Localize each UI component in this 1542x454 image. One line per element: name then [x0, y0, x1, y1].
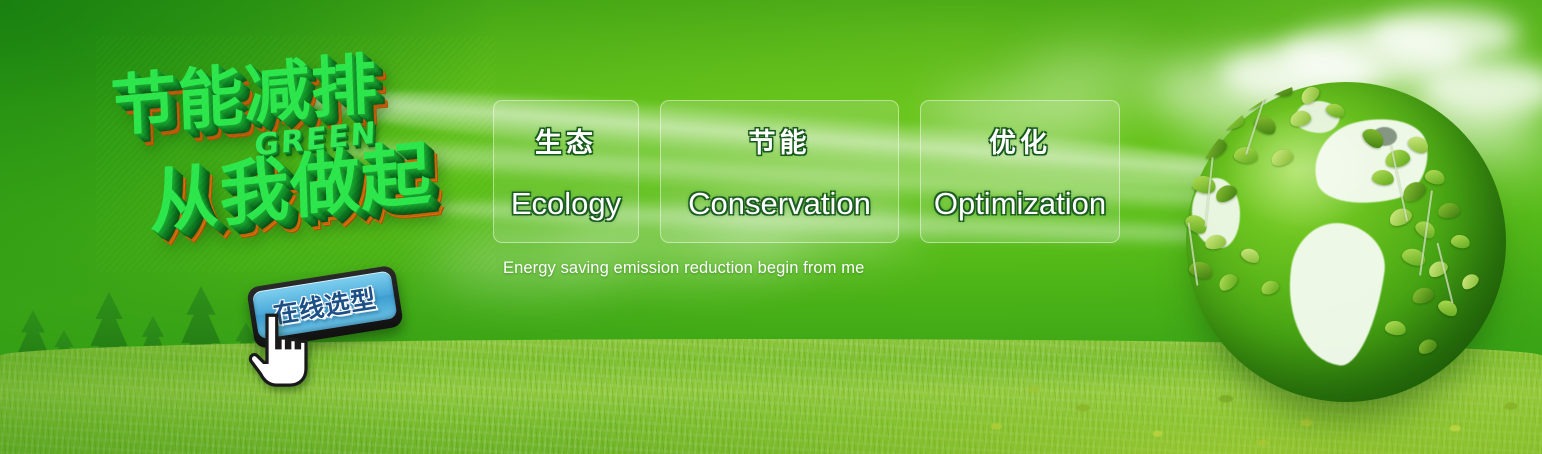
feature-card-ecology[interactable]: 生态 Ecology — [493, 100, 639, 243]
feature-card-title-en: Optimization — [934, 186, 1106, 222]
continent-west-edge — [1192, 178, 1240, 248]
pointing-hand-cursor-icon — [244, 312, 316, 390]
continent-south-america — [1279, 217, 1390, 369]
globe-sphere — [1186, 82, 1506, 402]
feature-card-list: 生态 Ecology 节能 Conservation 优化 Optimizati… — [493, 100, 1120, 243]
feature-card-title-en: Conservation — [688, 186, 871, 222]
feature-card-title-en: Ecology — [511, 186, 621, 222]
feature-card-optimization[interactable]: 优化 Optimization — [920, 100, 1120, 243]
continent-detail-spot — [1372, 127, 1398, 146]
feature-card-title-cn: 优化 — [989, 121, 1051, 160]
leaf-covered-globe-icon — [1186, 82, 1506, 402]
continent-greenland — [1295, 101, 1340, 133]
feature-card-title-cn: 节能 — [749, 121, 811, 160]
banner-tagline: Energy saving emission reduction begin f… — [503, 259, 864, 278]
hero-banner: 节能减排 GREEN 从我做起 在线选型 生态 Ecology 节能 Conse… — [0, 0, 1542, 454]
feature-card-title-cn: 生态 — [535, 121, 597, 160]
feature-card-conservation[interactable]: 节能 Conservation — [660, 100, 899, 243]
